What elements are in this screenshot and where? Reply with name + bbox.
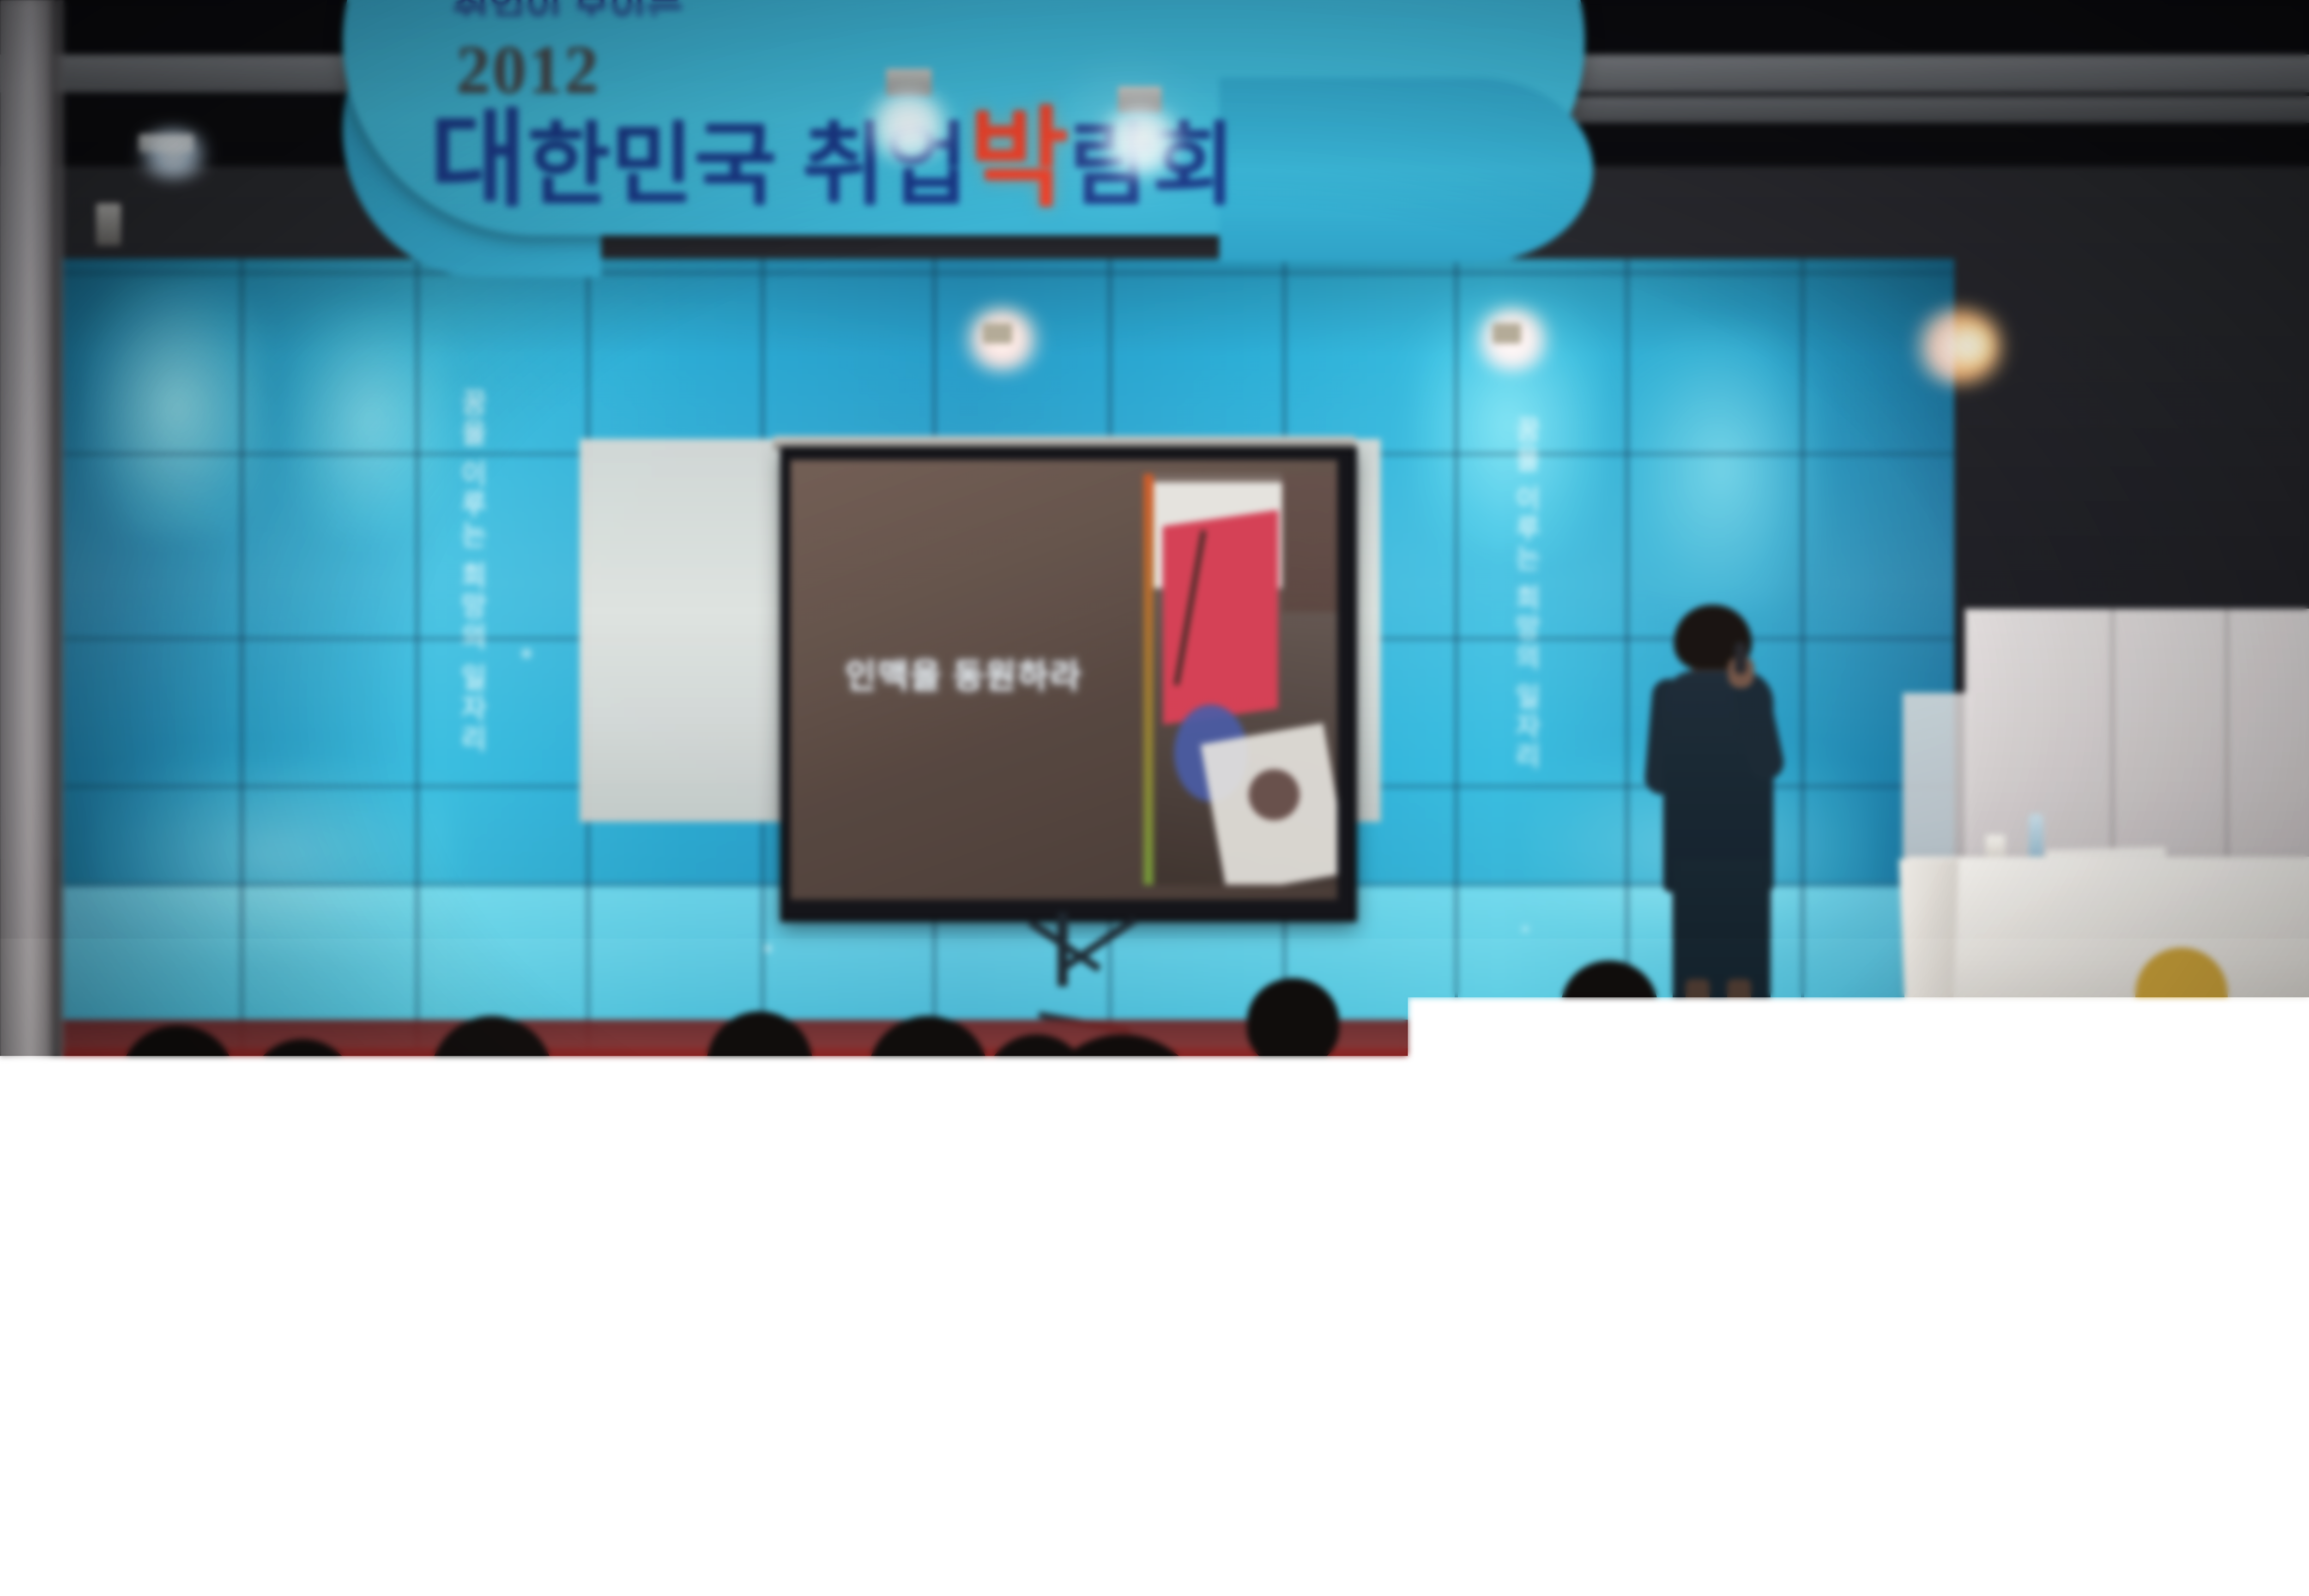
banner-title-part-0: 대 — [429, 100, 527, 219]
banner-cut-top-text: 취업이 보이는 — [453, 0, 822, 16]
slide-photo — [1143, 474, 1337, 885]
ceiling-spot-glow — [129, 128, 217, 179]
folding-chair — [1561, 1164, 1699, 1247]
chair-specular — [868, 1190, 887, 1202]
microphone — [1735, 642, 1747, 674]
stage-spot-fixture — [983, 323, 1012, 344]
audience-head — [707, 1011, 813, 1118]
banner-title-part-1: 한민국 — [527, 115, 802, 216]
audience-head — [106, 1155, 245, 1298]
stage-spot-fixture — [1493, 323, 1521, 344]
audience-head — [429, 1016, 554, 1145]
window-frame-bottom — [0, 1574, 2309, 1596]
chair-specular — [139, 1320, 159, 1334]
presenter-leg — [1727, 979, 1751, 1048]
backdrop-grid-line-v — [1801, 259, 1804, 1071]
chair-specular — [152, 1413, 175, 1427]
folding-chair — [1986, 1376, 2244, 1596]
audience-head-olive-cap — [1261, 1062, 1376, 1178]
backdrop-grid-line-v — [240, 259, 243, 1071]
chair-specular — [1720, 1409, 1740, 1421]
audience-head — [1247, 978, 1339, 1066]
audience-head-blonde — [2135, 948, 2228, 1040]
backdrop-vertical-text-left: 꿈을 이루는 희망의 일자리 — [435, 388, 490, 755]
backdrop-grid-line-v — [416, 259, 419, 1071]
audience-head — [720, 1164, 864, 1316]
chair-specular — [259, 1317, 283, 1332]
chair-specular — [194, 1322, 214, 1336]
hall-warm-spot-core — [1945, 323, 2001, 368]
photo-scene: 꿈을 이루는 희망의 일자리 꿈을 이루는 희망의 일자리 취업이 보이는 20… — [0, 0, 2309, 1596]
banner-title: 대한민국 취업박람회 — [429, 104, 1584, 224]
draped-table — [1907, 857, 2309, 1041]
table-surface-midfield — [1441, 1136, 1602, 1164]
chair-specular — [1902, 1386, 1922, 1399]
chair-highlight — [369, 1478, 619, 1482]
folding-chair — [1672, 1399, 1930, 1596]
chair-highlight — [1995, 1385, 2235, 1390]
audience-head — [1930, 1071, 2046, 1187]
table-cloth-drape — [1899, 859, 1959, 1076]
presenter-leg — [1686, 979, 1710, 1048]
ceiling-spot-glow — [855, 89, 961, 163]
chair-specular — [259, 1414, 281, 1428]
audience-head — [1736, 1039, 1852, 1155]
collar-dark — [1037, 1195, 1208, 1271]
wall-highlight-dot — [1519, 924, 1531, 935]
audience-head — [249, 1039, 356, 1141]
wall-highlight-dot — [762, 943, 774, 954]
window-frame-left — [0, 0, 54, 1596]
chair-highlight — [1681, 1409, 1921, 1413]
backdrop-grid-line-v — [1455, 259, 1458, 1071]
backdrop-vertical-text-right: 꿈을 이루는 희망의 일자리 — [1488, 416, 1543, 771]
presenter-skirt — [1673, 859, 1771, 997]
projection-screen-surface: 인맥을 동원하라 — [791, 460, 1337, 900]
wall-highlight-dot — [518, 647, 535, 660]
backdrop-grid-line-v — [1626, 259, 1629, 1071]
audience-head — [868, 1016, 988, 1131]
backdrop-grid-line-h — [61, 272, 1954, 274]
backdrop-glow-panel — [1626, 323, 1819, 610]
chair-specular — [381, 1238, 402, 1251]
banner-year: 2012 — [456, 30, 650, 104]
audience-head — [1815, 1145, 1967, 1307]
slide-headline: 인맥을 동원하라 — [845, 648, 1104, 704]
chair-specular — [896, 1194, 914, 1206]
chair-highlight — [689, 1482, 909, 1487]
folding-chair — [485, 1201, 633, 1293]
window-frame-left-shadow — [52, 0, 64, 1596]
wall-spot-fixture — [96, 203, 121, 246]
backdrop-glow-panel — [286, 305, 453, 536]
water-bottle — [2029, 814, 2043, 862]
